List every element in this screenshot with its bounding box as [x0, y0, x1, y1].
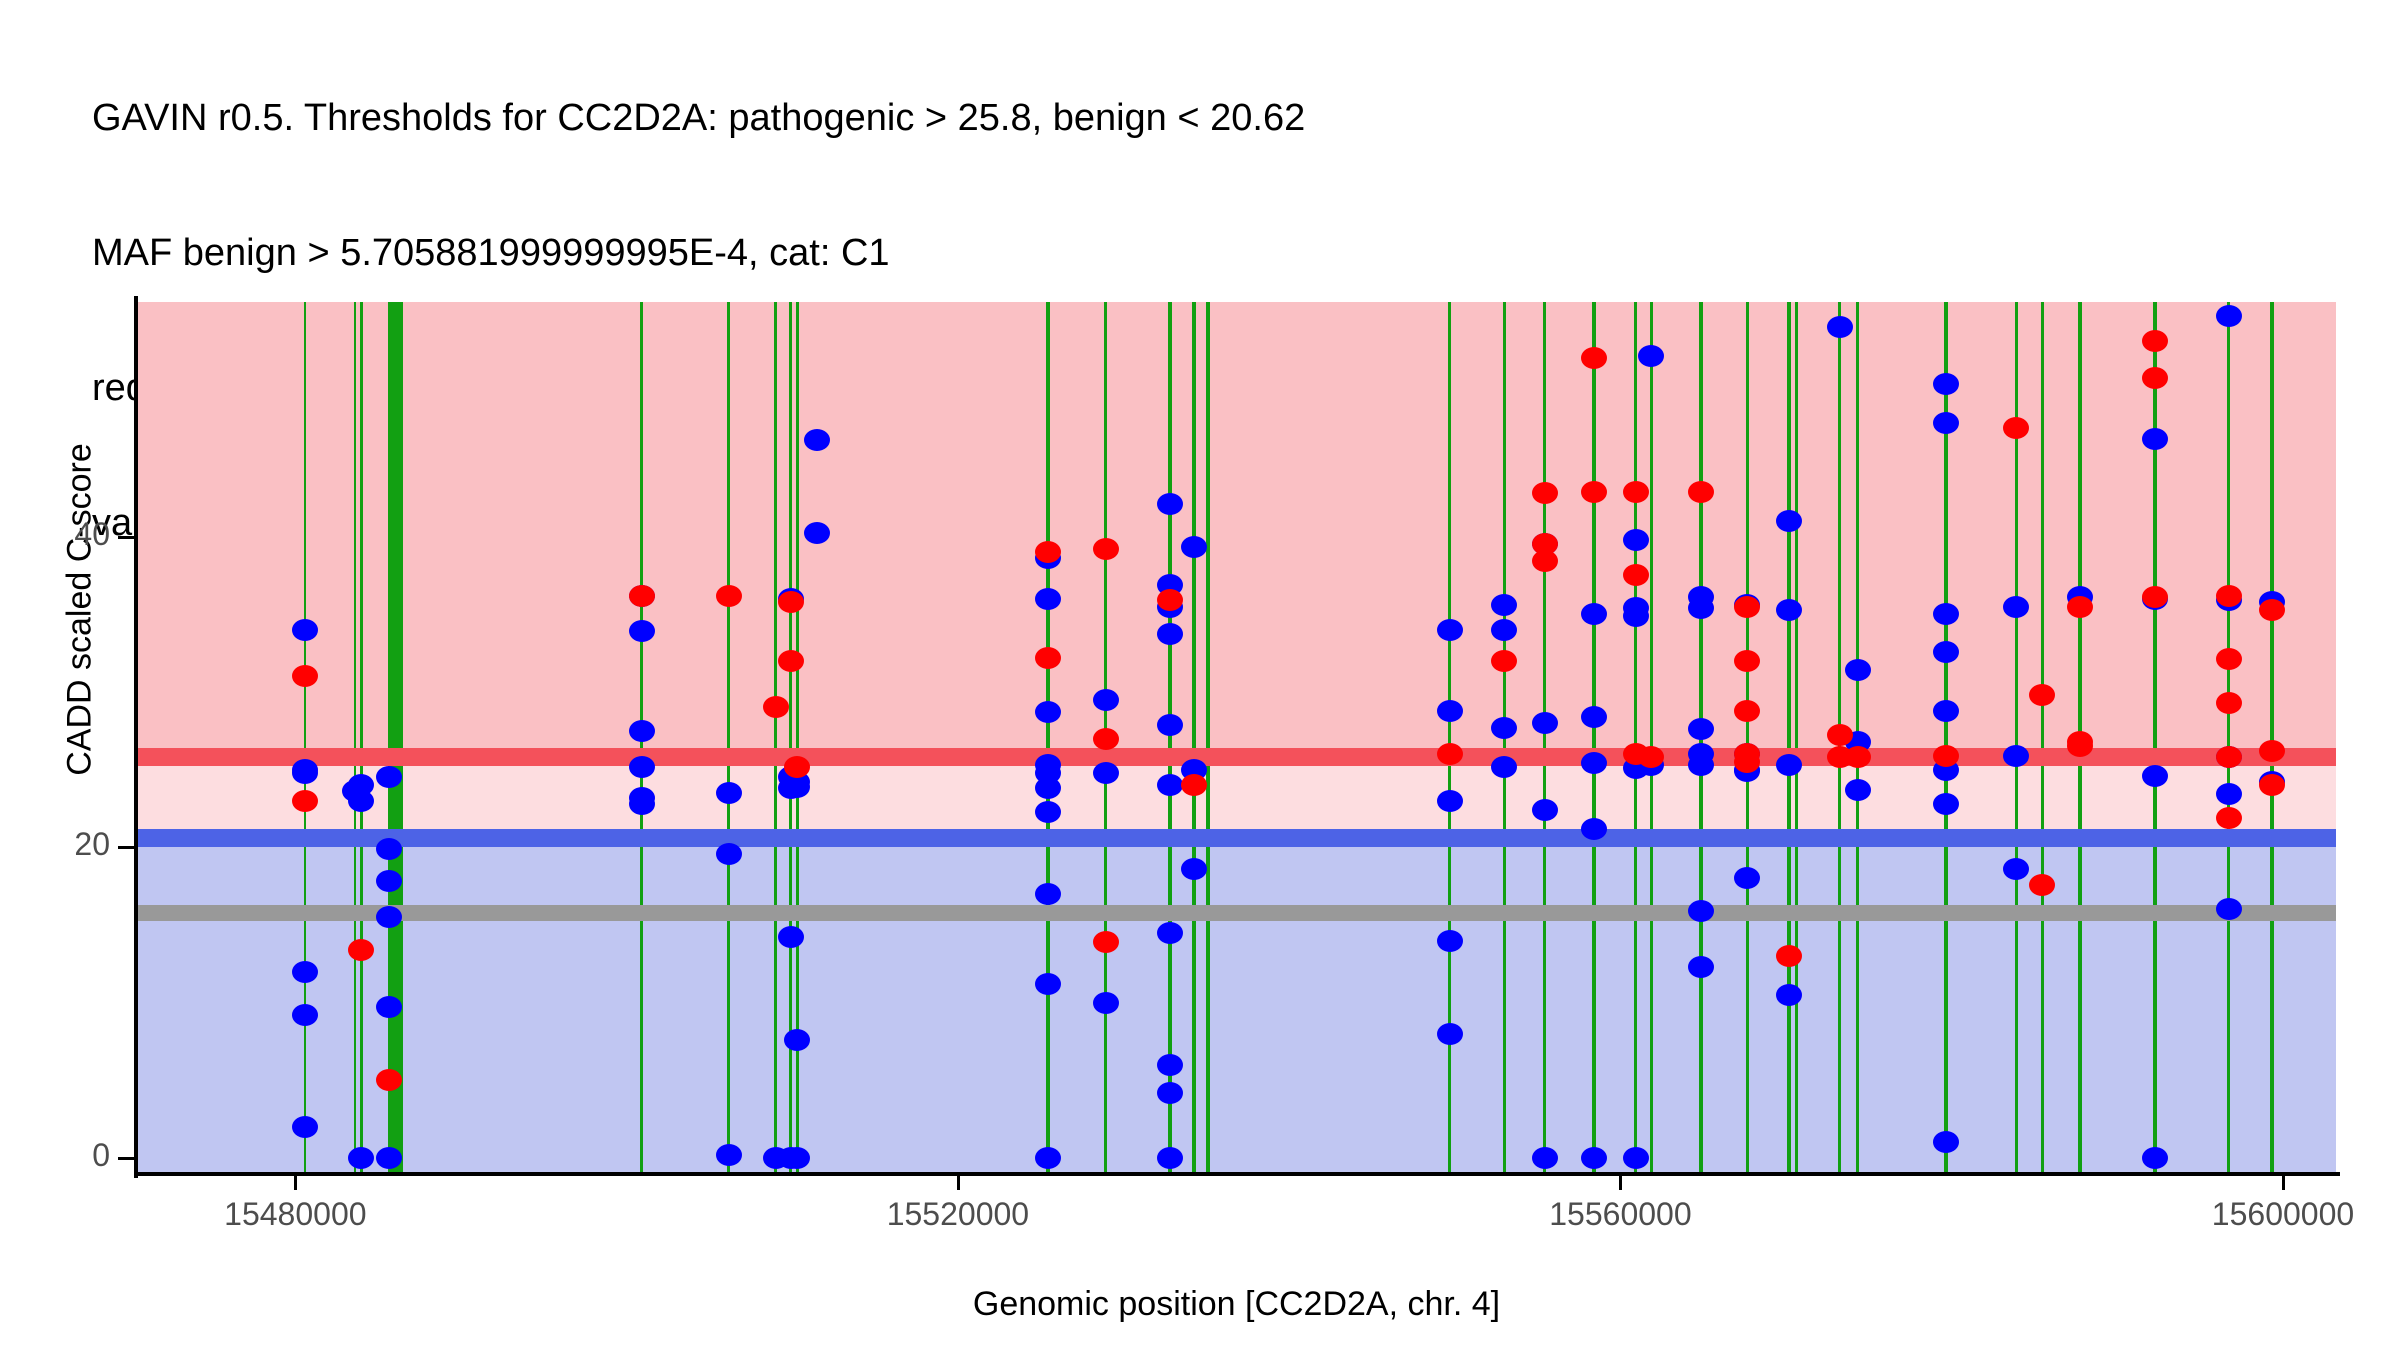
pathogenic-variant-point [292, 790, 318, 812]
fallback-threshold-line [137, 905, 2336, 921]
exon-line [1192, 302, 1196, 1172]
gnomad-variant-point [1532, 799, 1558, 821]
gnomad-variant-point [784, 1029, 810, 1051]
gnomad-variant-point [1093, 689, 1119, 711]
gnomad-variant-point [1035, 1147, 1061, 1169]
gnomad-variant-point [1623, 1147, 1649, 1169]
gnomad-variant-point [1437, 930, 1463, 952]
title-line-1: GAVIN r0.5. Thresholds for CC2D2A: patho… [92, 96, 2372, 141]
gnomad-variant-point [1035, 777, 1061, 799]
gnomad-variant-point [2142, 765, 2168, 787]
x-tick-label: 15560000 [1470, 1196, 1770, 1233]
gnomad-variant-point [1035, 883, 1061, 905]
x-tick-label: 15600000 [2133, 1196, 2400, 1233]
pathogenic-variant-point [1623, 481, 1649, 503]
pathogenic-variant-point [1035, 541, 1061, 563]
x-tick-label: 15480000 [145, 1196, 445, 1233]
gnomad-variant-point [1933, 793, 1959, 815]
x-tick [294, 1176, 297, 1190]
gnomad-variant-point [716, 782, 742, 804]
gnomad-variant-point [629, 620, 655, 642]
gnomad-variant-point [1933, 641, 1959, 663]
gnomad-variant-point [1181, 536, 1207, 558]
pathogenic-variant-point [2029, 874, 2055, 896]
pathogenic-variant-point [2216, 746, 2242, 768]
exon-line [774, 302, 777, 1172]
gnomad-variant-point [1035, 701, 1061, 723]
exon-line [1592, 302, 1596, 1172]
pathogenic-variant-point [784, 756, 810, 778]
gnomad-variant-point [1093, 762, 1119, 784]
x-tick [2282, 1176, 2285, 1190]
gnomad-variant-point [716, 1144, 742, 1166]
plot-panel [137, 302, 2336, 1172]
pathogenic-variant-point [1933, 745, 1959, 767]
pathogenic-variant-point [1845, 746, 1871, 768]
gnomad-variant-point [1035, 588, 1061, 610]
pathogenic-variant-point [716, 585, 742, 607]
exon-line [390, 302, 403, 1172]
y-tick-label: 0 [0, 1137, 110, 1174]
gnomad-variant-point [292, 1116, 318, 1138]
pathogenic-variant-point [2067, 731, 2093, 753]
exon-line [1168, 302, 1172, 1172]
gnomad-variant-point [1157, 922, 1183, 944]
gnomad-variant-point [1933, 700, 1959, 722]
gnomad-variant-point [1845, 659, 1871, 681]
pathogenic-variant-point [2067, 596, 2093, 618]
gnomad-variant-point [784, 776, 810, 798]
exon-line [1650, 302, 1653, 1172]
y-axis-title: CADD scaled C-score [61, 330, 100, 890]
gnomad-variant-point [1035, 801, 1061, 823]
gnomad-variant-point [1532, 712, 1558, 734]
gnomad-variant-point [1623, 605, 1649, 627]
pathogenic-variant-point [2142, 330, 2168, 352]
gnomad-variant-point [2003, 745, 2029, 767]
gnomad-variant-point [1093, 992, 1119, 1014]
title-line-2: MAF benign > 5.705881999999995E-4, cat: … [92, 231, 2372, 276]
exon-line [2270, 302, 2274, 1172]
gnomad-variant-point [348, 790, 374, 812]
gnomad-variant-point [1437, 700, 1463, 722]
pathogenic-variant-point [1532, 482, 1558, 504]
gnomad-variant-point [292, 961, 318, 983]
exon-line [304, 302, 306, 1172]
gnomad-variant-point [1776, 984, 1802, 1006]
gnomad-variant-point [1491, 594, 1517, 616]
gnomad-variant-point [1181, 858, 1207, 880]
gnomad-variant-point [1491, 619, 1517, 641]
exon-line [1543, 302, 1546, 1172]
pathogenic-variant-point [1688, 481, 1714, 503]
gnomad-variant-point [629, 793, 655, 815]
gnomad-variant-point [1623, 529, 1649, 551]
y-tick [118, 846, 134, 849]
exon-line [1046, 302, 1050, 1172]
pathogenic-variant-point [2216, 807, 2242, 829]
pathogenic-variant-point [1181, 774, 1207, 796]
y-tick-label: 40 [0, 516, 110, 553]
exon-line [2227, 302, 2230, 1172]
pathogenic-variant-point [2259, 599, 2285, 621]
chart-root: GAVIN r0.5. Thresholds for CC2D2A: patho… [0, 0, 2400, 1350]
exon-line [1206, 302, 1210, 1172]
x-axis-line [134, 1172, 2340, 1176]
pathogenic-variant-point [1035, 647, 1061, 669]
pathogenic-variant-point [778, 650, 804, 672]
gnomad-variant-point [716, 843, 742, 865]
gnomad-variant-point [1776, 599, 1802, 621]
gnomad-variant-point [1581, 818, 1607, 840]
gnomad-variant-point [1491, 756, 1517, 778]
pathogenic-variant-point [1734, 596, 1760, 618]
gnomad-variant-point [1035, 973, 1061, 995]
y-axis-line [134, 296, 138, 1178]
exon-line [1787, 302, 1791, 1172]
gnomad-variant-point [292, 759, 318, 781]
y-tick-label: 20 [0, 826, 110, 863]
gnomad-variant-point [1157, 493, 1183, 515]
gnomad-variant-point [1776, 754, 1802, 776]
pathogenic-variant-point [2216, 648, 2242, 670]
exon-line [360, 302, 363, 1172]
gnomad-variant-point [1776, 510, 1802, 532]
gnomad-variant-point [1827, 316, 1853, 338]
pathogenic-variant-point [1734, 650, 1760, 672]
pathogenic-variant-point [1776, 945, 1802, 967]
gnomad-variant-point [1845, 779, 1871, 801]
pathogenic-variant-point [1491, 650, 1517, 672]
gnomad-variant-point [1437, 790, 1463, 812]
gnomad-variant-point [1157, 714, 1183, 736]
x-tick [1619, 1176, 1622, 1190]
gnomad-variant-point [1437, 619, 1463, 641]
gnomad-variant-point [1491, 717, 1517, 739]
benign-threshold-line [137, 829, 2336, 847]
exon-line [1795, 302, 1798, 1172]
pathogenic-variant-point [2259, 740, 2285, 762]
pathogenic-band [137, 302, 2336, 757]
pathogenic-variant-point [2216, 692, 2242, 714]
pathogenic-variant-point [1734, 700, 1760, 722]
gnomad-variant-point [1437, 1023, 1463, 1045]
x-tick [957, 1176, 960, 1190]
gnomad-variant-point [1933, 412, 1959, 434]
gnomad-variant-point [2216, 305, 2242, 327]
pathogenic-variant-point [1734, 751, 1760, 773]
pathogenic-variant-point [629, 585, 655, 607]
gnomad-variant-point [2003, 596, 2029, 618]
benign-band [137, 838, 2336, 1172]
gnomad-variant-point [2142, 428, 2168, 450]
y-tick [118, 1157, 134, 1160]
gnomad-variant-point [1157, 1054, 1183, 1076]
pathogenic-variant-point [1093, 728, 1119, 750]
pathogenic-variant-point [1437, 743, 1463, 765]
pathogenic-variant-point [1581, 481, 1607, 503]
gnomad-variant-point [292, 1004, 318, 1026]
exon-line [1746, 302, 1749, 1172]
pathogenic-variant-point [2216, 585, 2242, 607]
x-tick-label: 15520000 [808, 1196, 1108, 1233]
gnomad-variant-point [629, 756, 655, 778]
gnomad-variant-point [292, 619, 318, 641]
pathogenic-variant-point [1093, 538, 1119, 560]
gnomad-variant-point [1157, 1082, 1183, 1104]
x-axis-title: Genomic position [CC2D2A, chr. 4] [137, 1285, 2336, 1324]
exon-line [727, 302, 730, 1172]
pathogenic-variant-point [778, 591, 804, 613]
ambiguous-band [137, 757, 2336, 837]
exon-line [354, 302, 356, 1172]
gnomad-variant-point [629, 720, 655, 742]
pathogenic-variant-point [1532, 550, 1558, 572]
gnomad-variant-point [1532, 1147, 1558, 1169]
pathogenic-variant-point [348, 939, 374, 961]
pathogenic-variant-point [1093, 931, 1119, 953]
y-tick [118, 536, 134, 539]
exon-line [1634, 302, 1637, 1172]
exon-line [2041, 302, 2044, 1172]
gnomad-variant-point [778, 926, 804, 948]
